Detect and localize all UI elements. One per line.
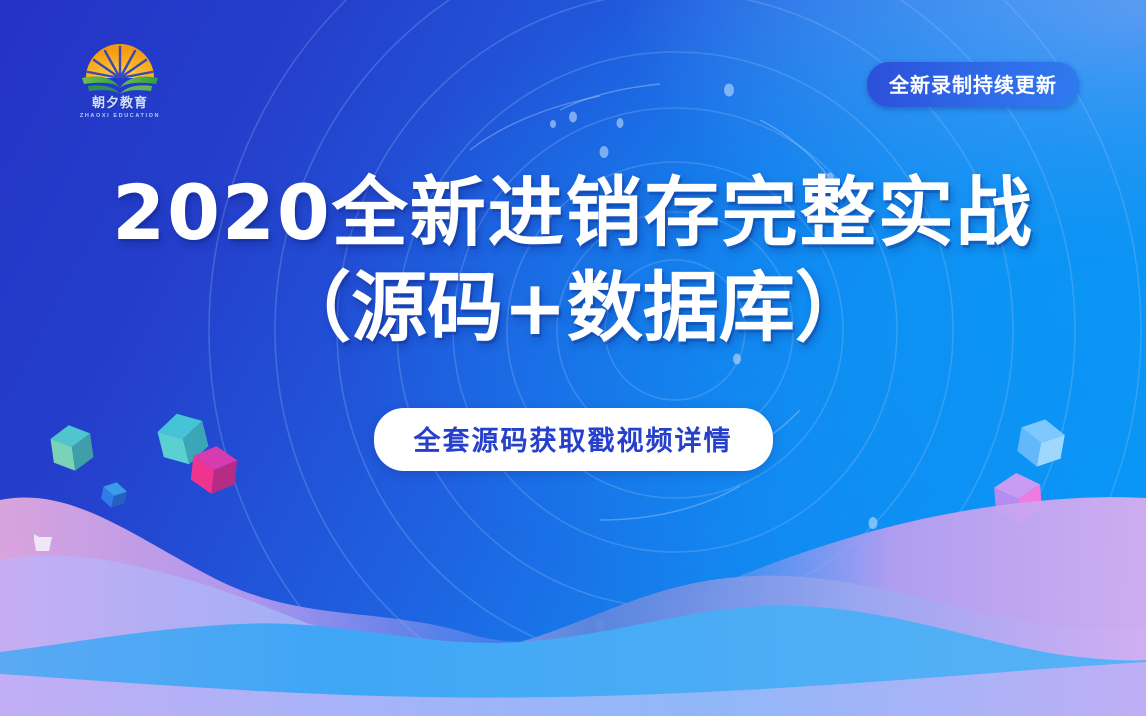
logo-brand-name: 朝夕教育 (74, 96, 166, 110)
logo-brand-pinyin: ZHAOXI EDUCATION (74, 113, 166, 119)
sunrise-logo-icon (74, 34, 166, 96)
wave-decoration (0, 456, 1146, 716)
course-poster: 朝夕教育 ZHAOXI EDUCATION 全新录制持续更新 2020全新进销存… (0, 0, 1146, 716)
title-line-1: 2020全新进销存完整实战 (0, 170, 1146, 255)
update-badge[interactable]: 全新录制持续更新 (867, 62, 1079, 107)
title-line-2: （源码+数据库） (0, 265, 1146, 350)
page-title: 2020全新进销存完整实战 （源码+数据库） (0, 170, 1146, 350)
brand-logo: 朝夕教育 ZHAOXI EDUCATION (74, 34, 166, 130)
